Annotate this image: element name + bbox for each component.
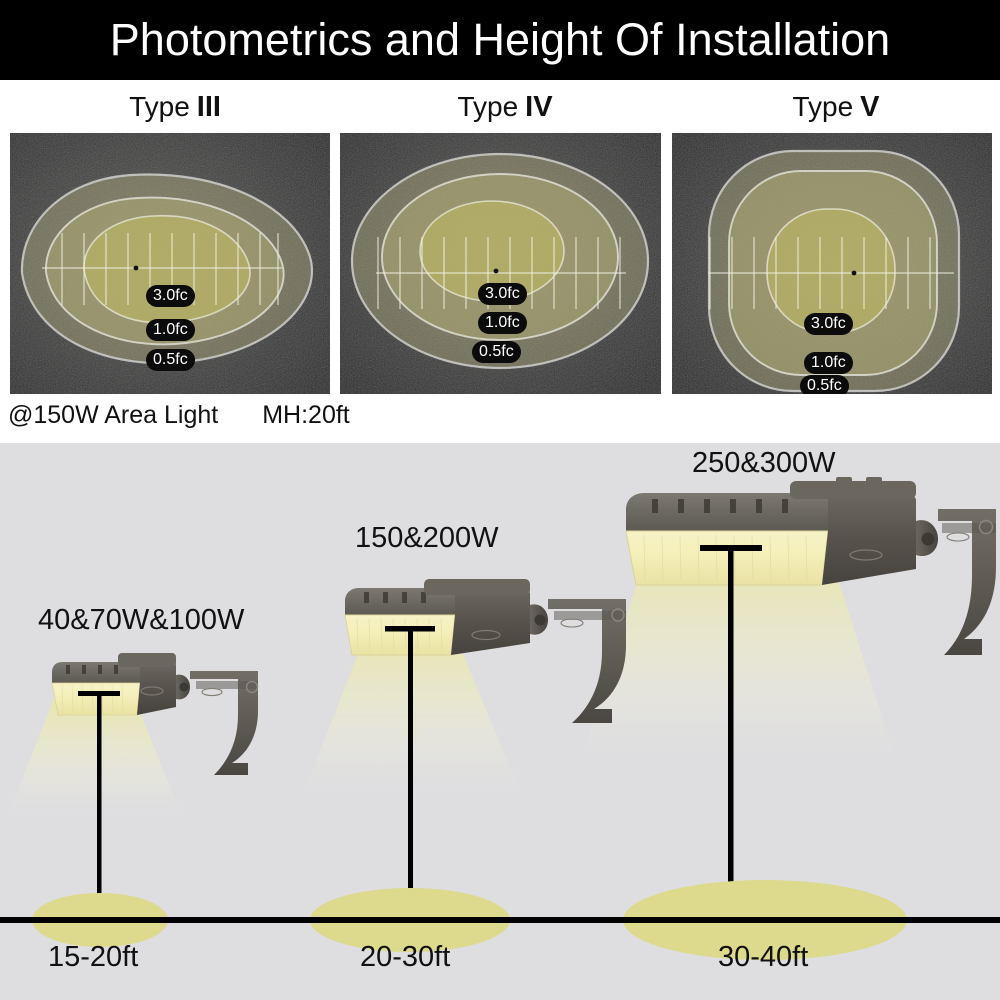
pole-head-large	[700, 545, 762, 551]
pole-small	[97, 693, 102, 920]
type-label-3: Type III	[10, 88, 340, 126]
pole-head-medium	[385, 626, 435, 632]
height-label-medium: 20-30ft	[360, 940, 450, 974]
type4-fc-badge-group: 3.0fc 1.0fc 0.5fc	[340, 133, 661, 394]
fc-badge-1-0: 1.0fc	[478, 312, 527, 334]
header-bar: Photometrics and Height Of Installation	[0, 0, 1000, 80]
photometric-diagram-type-3: 3.0fc 1.0fc 0.5fc	[10, 133, 330, 394]
type-numeral-3: III	[197, 91, 221, 124]
pole-large	[728, 548, 734, 920]
height-label-large: 30-40ft	[718, 940, 808, 974]
infographic-root: Photometrics and Height Of Installation …	[0, 0, 1000, 1000]
type3-fc-badge-group: 3.0fc 1.0fc 0.5fc	[10, 133, 330, 394]
type-numeral-4: IV	[525, 91, 552, 124]
fc-badge-1-0: 1.0fc	[146, 319, 195, 341]
height-label-small: 15-20ft	[48, 940, 138, 974]
type-word-5: Type	[792, 91, 853, 123]
installation-scene-svg	[0, 443, 1000, 1000]
caption-wattage: @150W Area Light	[8, 401, 218, 430]
fc-badge-3-0: 3.0fc	[804, 313, 853, 335]
photometrics-caption: @150W Area Light MH:20ft	[8, 398, 350, 432]
wattage-label-large: 250&300W	[692, 446, 836, 480]
pole-head-small	[78, 691, 120, 696]
photometric-diagram-type-4: 3.0fc 1.0fc 0.5fc	[340, 133, 661, 394]
fc-badge-0-5: 0.5fc	[800, 375, 849, 394]
type5-fc-badge-group: 3.0fc 1.0fc 0.5fc	[672, 133, 992, 394]
type-numeral-5: V	[860, 91, 879, 124]
wattage-label-medium: 150&200W	[355, 521, 499, 555]
wattage-label-small: 40&70W&100W	[38, 603, 244, 637]
ground-line	[0, 917, 1000, 923]
pole-medium	[408, 628, 413, 920]
type-word-4: Type	[457, 91, 518, 123]
type-word-3: Type	[129, 91, 190, 123]
fc-badge-1-0: 1.0fc	[804, 352, 853, 374]
fc-badge-3-0: 3.0fc	[478, 283, 527, 305]
fc-badge-3-0: 3.0fc	[146, 285, 195, 307]
fc-badge-0-5: 0.5fc	[472, 341, 521, 363]
type-label-4: Type IV	[340, 88, 670, 126]
caption-mounting-height: MH:20ft	[262, 401, 350, 430]
page-title: Photometrics and Height Of Installation	[0, 0, 1000, 80]
fc-badge-0-5: 0.5fc	[146, 349, 195, 371]
photometric-diagram-type-5: 3.0fc 1.0fc 0.5fc	[672, 133, 992, 394]
installation-scene: 40&70W&100W 150&200W 250&300W 15-20ft 20…	[0, 443, 1000, 1000]
type-label-5: Type V	[672, 88, 1000, 126]
